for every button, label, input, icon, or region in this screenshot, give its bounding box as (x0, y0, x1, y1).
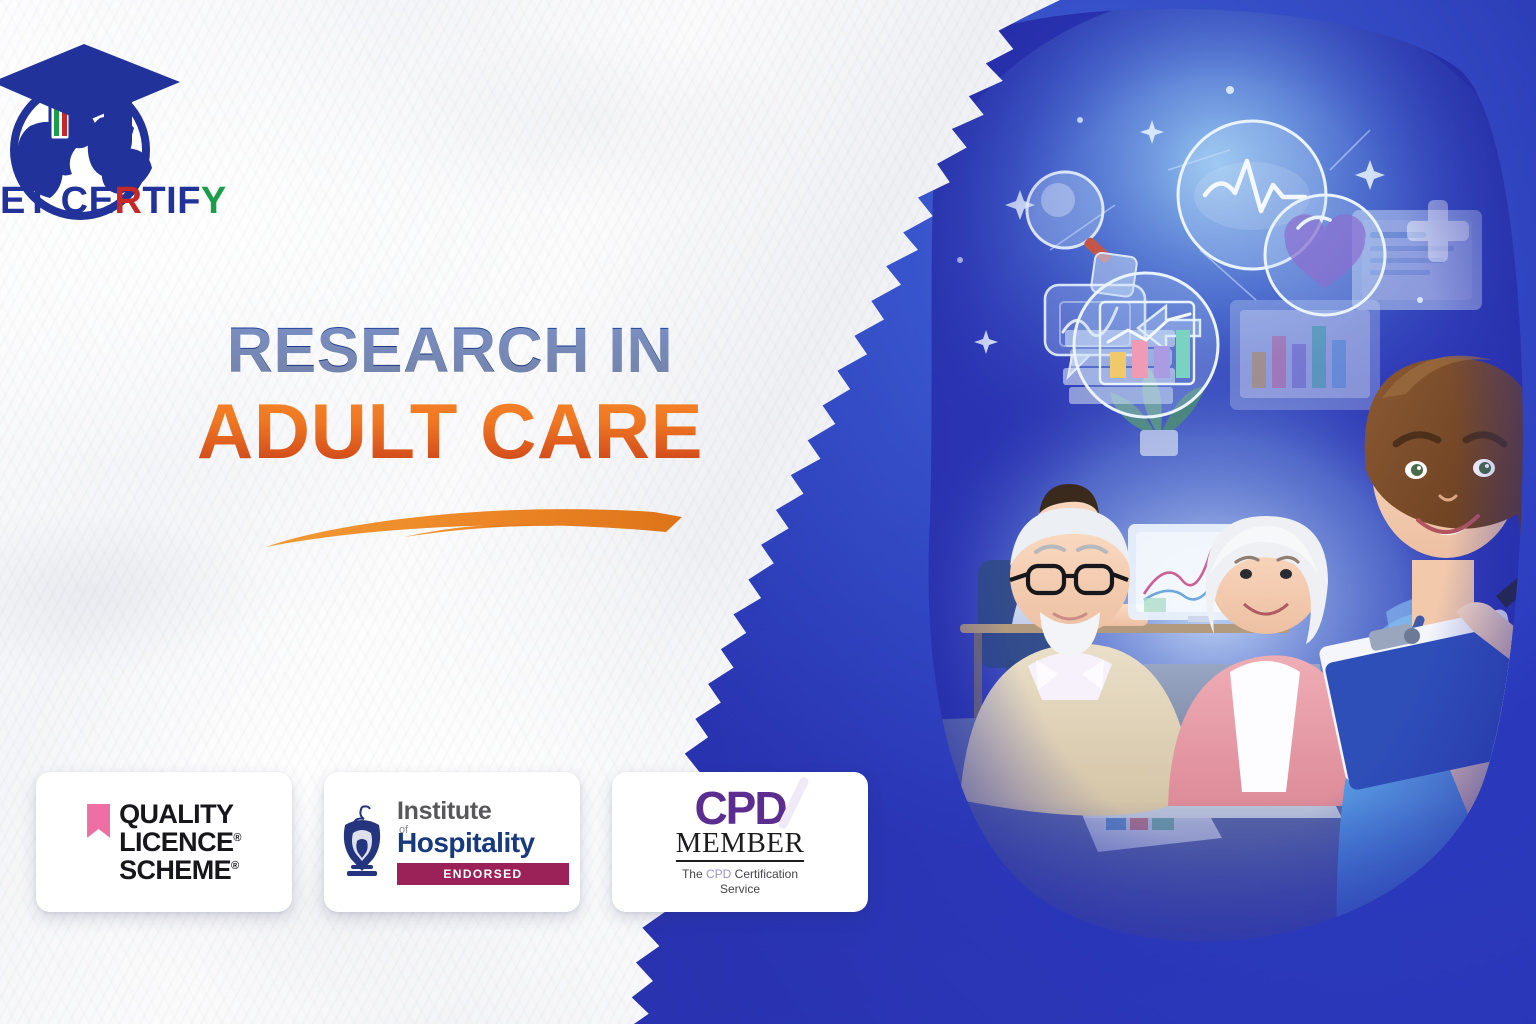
brand-name-part2: TIF (142, 180, 200, 222)
brand-name: GET CERTIFY (0, 180, 227, 223)
adult-care-research-illustration (900, 0, 1536, 1024)
cpd-line-3c: Certification (731, 867, 798, 881)
accreditation-badges: QUALITY LICENCE® SCHEME® In (36, 772, 868, 912)
badge-quality-licence-scheme[interactable]: QUALITY LICENCE® SCHEME® (36, 772, 292, 912)
brand-name-part1: GET CE (0, 180, 114, 222)
qls-line-3: SCHEME (119, 855, 231, 885)
qls-line-2: LICENCE (119, 827, 233, 857)
cpd-line-3b: CPD (706, 867, 731, 881)
cpd-line-3a: The (682, 867, 706, 881)
qls-trademark-2: ® (231, 860, 239, 872)
headline-line-2: ADULT CARE (0, 392, 900, 470)
cpd-line-4: Service (720, 882, 760, 896)
qls-trademark-1: ® (233, 832, 241, 844)
headline-line-1: RESEARCH IN (0, 318, 900, 382)
qls-line-1: QUALITY (119, 800, 241, 828)
banner-root: GET CERTIFY RESEARCH IN ADULT CARE QUA (0, 0, 1536, 1024)
brand-name-accent-y: Y (201, 180, 227, 222)
brand-name-accent-r: R (114, 180, 142, 222)
page-title: RESEARCH IN ADULT CARE (0, 318, 900, 470)
cpd-line-2: MEMBER (676, 829, 805, 862)
ioh-line-1: Institute (397, 799, 569, 824)
orange-swoosh-icon (262, 495, 702, 551)
pink-ribbon-icon (87, 804, 110, 838)
institute-crest-icon (335, 803, 389, 881)
ioh-line-2: Hospitality (397, 829, 569, 858)
badge-institute-of-hospitality[interactable]: Institute of Hospitality ENDORSED (324, 772, 580, 912)
status-badge: ENDORSED (397, 863, 569, 885)
badge-cpd-member[interactable]: CPD MEMBER The CPD Certification Service (612, 772, 868, 912)
